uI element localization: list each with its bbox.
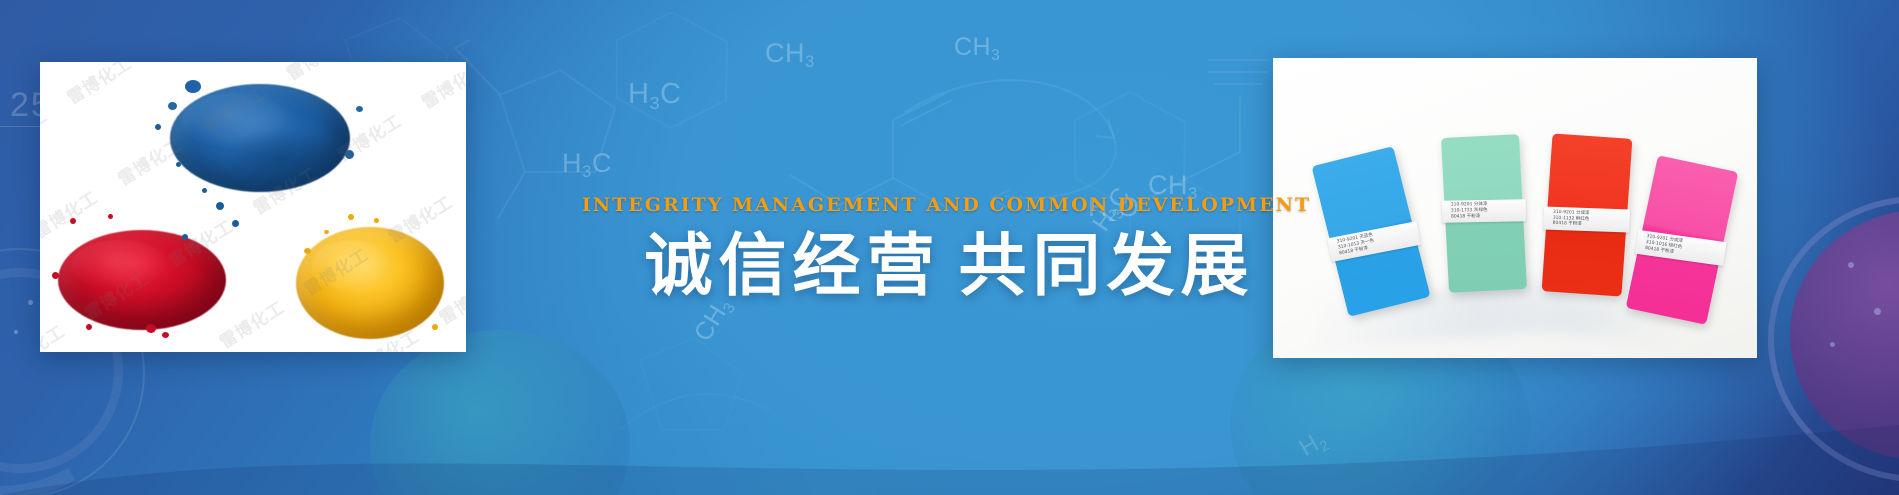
panel-label-band-4: 310-9201 分成漆 310-1016 桃红色 80418 干粉漆 [1635,230,1726,266]
sample-panel-sky-blue[interactable]: 310-9201 天蓝色 310-1013 天一色 80418 干粉漆 [1311,146,1430,317]
headline-part-2: 共同发展 [959,227,1255,306]
panel-label-band-3: 310-9201 分成漆 310-1132 鲜红色 80418 干粉漆 [1543,206,1630,232]
chem-label-h2o-right: H2O [1088,192,1139,223]
chem-label-ch3-bottom: CH3 [689,292,738,347]
chem-label-ch3-top2: CH3 [954,33,1000,62]
decor-dot [1874,308,1881,315]
panel-label-line: 80418 干粉漆 [1552,221,1621,229]
sample-panel-red[interactable]: 310-9201 分成漆 310-1132 鲜红色 80418 干粉漆 [1542,133,1633,296]
panel-label-line: 80418 干粉漆 [1451,213,1517,220]
left-photo-inner: 雷博化工雷博化工雷博化工雷博化工雷博化工雷博化工雷博化工雷博化工雷博化工雷博化工… [40,62,466,352]
bottom-swoosh-icon [0,355,1899,495]
decor-dot [14,330,18,334]
left-photo-watermark: 雷博化工雷博化工雷博化工雷博化工雷博化工雷博化工雷博化工雷博化工雷博化工雷博化工… [40,62,466,352]
right-product-photo[interactable]: 310-9201 天蓝色 310-1013 天一色 80418 干粉漆 310-… [1273,58,1757,358]
chem-label-ch3-top: CH3 [765,38,815,69]
banner-subheadline-english: INTEGRITY MANAGEMENT AND COMMON DEVELOPM… [582,194,1311,216]
chem-label-h3c-left: H3C [628,78,681,111]
right-photo-inner: 310-9201 天蓝色 310-1013 天一色 80418 干粉漆 310-… [1273,58,1757,358]
panel-label-band-2: 310-9201 分体漆 310-1733 灰绿色 80418 干粉漆 [1442,199,1527,222]
banner-headline-chinese: 诚信经营共同发展 [644,233,1254,301]
panel-label-band-1: 310-9201 天蓝色 310-1013 天一色 80418 干粉漆 [1327,221,1421,262]
left-product-photo[interactable]: 雷博化工雷博化工雷博化工雷博化工雷博化工雷博化工雷博化工雷博化工雷博化工雷博化工… [40,62,466,352]
chem-label-h2-bottom: H2 [1295,425,1332,463]
hero-banner: H3C H3C CH3 CH3 CH3 H3C H2O CH3 H3C H2 2… [0,0,1899,495]
decor-dot [28,300,33,305]
purple-blob-ring-icon [1768,196,1899,482]
teal-blob-decoration [370,330,630,495]
chem-label-h3c-left2: H3C [562,148,612,179]
decor-dot [1848,262,1854,268]
decor-dot [1830,342,1835,347]
purple-blob-decoration [1790,210,1899,460]
chem-label-h3c-right: H3C [1087,182,1137,237]
sample-panel-mint-green[interactable]: 310-9201 分体漆 310-1733 灰绿色 80418 干粉漆 [1441,134,1527,293]
headline-part-1: 诚信经营 [644,227,940,306]
chem-label-ch3-right: CH3 [1148,170,1198,201]
sample-panel-pink[interactable]: 310-9201 分成漆 310-1016 桃红色 80418 干粉漆 [1626,155,1739,325]
